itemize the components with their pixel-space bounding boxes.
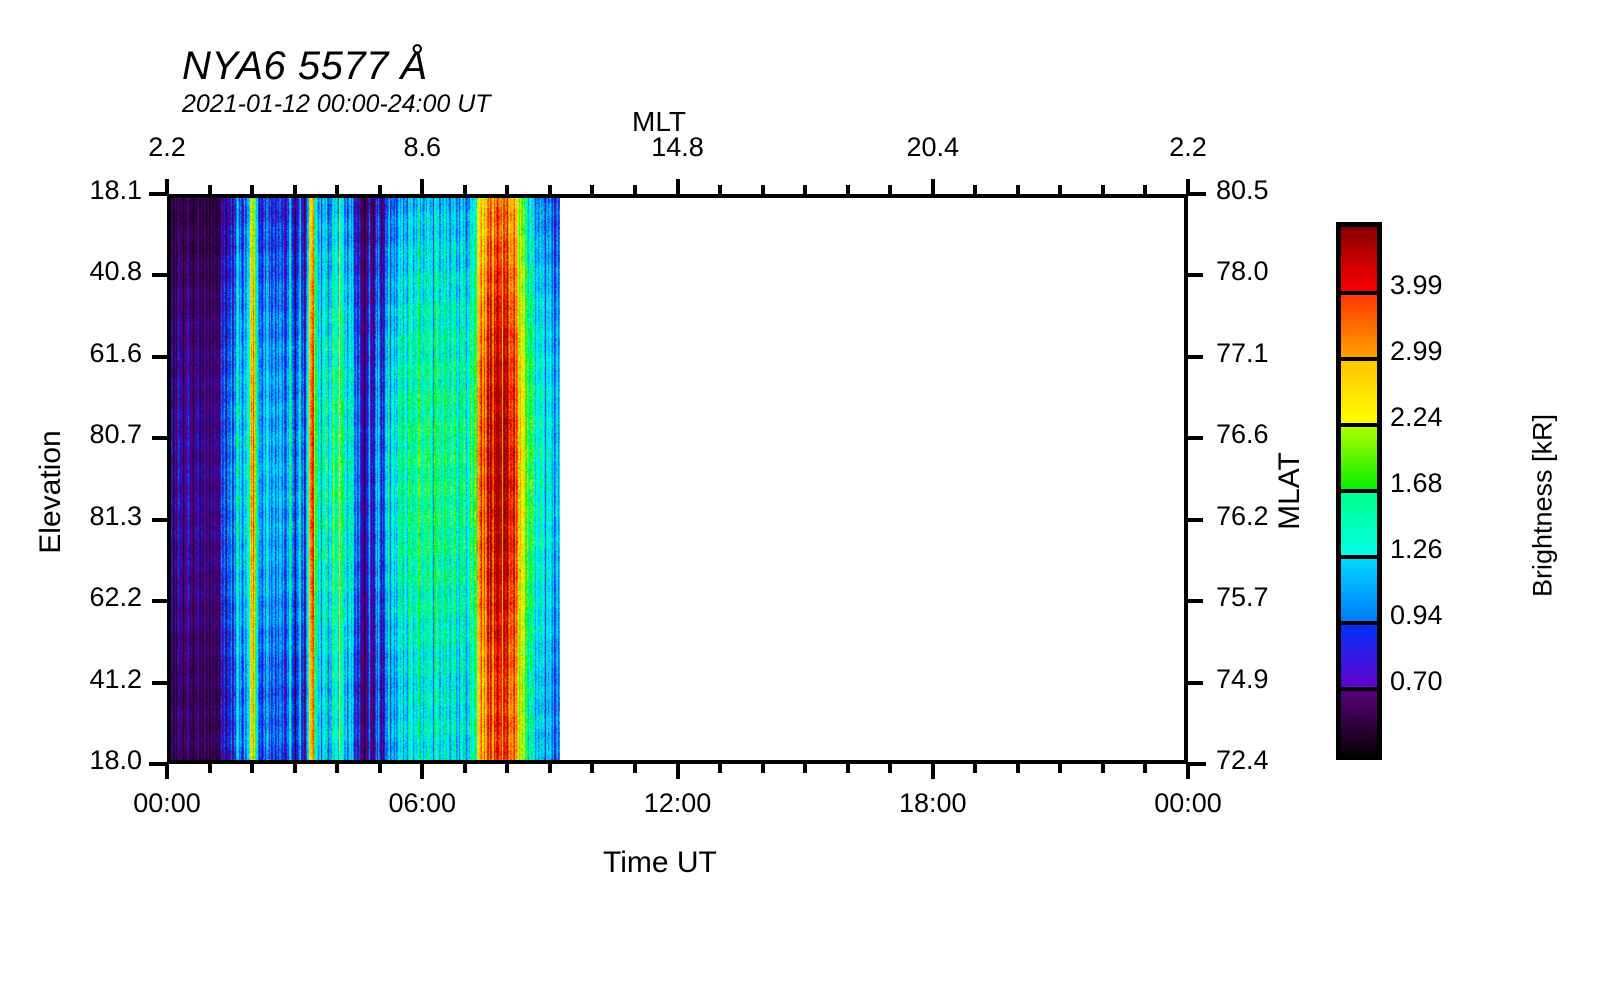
- colorbar-divider: [1341, 291, 1377, 295]
- tick-bottom-22: [1101, 764, 1105, 773]
- tick-bottom-12: [676, 764, 680, 779]
- tick-bottom-8: [505, 764, 509, 773]
- elevation-tick-label: 41.2: [0, 664, 142, 695]
- colorbar-divider: [1341, 621, 1377, 625]
- tick-right-4: [1188, 518, 1203, 522]
- tick-top-21: [1058, 185, 1062, 194]
- elevation-tick-label: 18.1: [0, 175, 142, 206]
- colorbar-axis-title: Brightness [kR]: [1528, 351, 1559, 661]
- colorbar-tick-label: 3.99: [1390, 270, 1443, 301]
- tick-top-13: [718, 185, 722, 194]
- tick-top-3: [293, 185, 297, 194]
- elevation-tick-label: 81.3: [0, 501, 142, 532]
- tick-right-6: [1188, 681, 1203, 685]
- time-tick-label: 00:00: [1118, 788, 1258, 819]
- tick-right-7: [1188, 762, 1206, 766]
- colorbar-tick-label: 0.70: [1390, 666, 1443, 697]
- elevation-tick-label: 61.6: [0, 338, 142, 369]
- tick-bottom-1: [208, 764, 212, 773]
- tick-bottom-4: [335, 764, 339, 773]
- tick-top-16: [846, 185, 850, 194]
- tick-bottom-5: [378, 764, 382, 773]
- mlt-tick-label: 2.2: [1118, 132, 1258, 163]
- tick-left-0: [149, 192, 167, 196]
- tick-bottom-13: [718, 764, 722, 773]
- tick-left-7: [149, 762, 167, 766]
- elevation-tick-label: 18.0: [0, 745, 142, 776]
- tick-bottom-2: [250, 764, 254, 773]
- tick-right-5: [1188, 599, 1203, 603]
- tick-top-10: [590, 185, 594, 194]
- tick-left-2: [152, 355, 167, 359]
- tick-bottom-15: [803, 764, 807, 773]
- page-subtitle: 2021-01-12 00:00-24:00 UT: [182, 90, 491, 119]
- tick-top-9: [548, 185, 552, 194]
- tick-top-20: [1016, 185, 1020, 194]
- tick-bottom-7: [463, 764, 467, 773]
- mlt-tick-label: 14.8: [608, 132, 748, 163]
- tick-bottom-6: [420, 764, 424, 779]
- tick-bottom-9: [548, 764, 552, 773]
- tick-bottom-18: [931, 764, 935, 779]
- page-title: NYA6 5577 Å: [182, 44, 428, 89]
- tick-left-6: [152, 681, 167, 685]
- elevation-tick-label: 80.7: [0, 419, 142, 450]
- tick-left-1: [152, 273, 167, 277]
- tick-top-6: [420, 179, 424, 194]
- colorbar-tick-label: 2.99: [1390, 336, 1443, 367]
- tick-top-15: [803, 185, 807, 194]
- tick-top-11: [633, 185, 637, 194]
- tick-bottom-14: [761, 764, 765, 773]
- elevation-tick-label: 62.2: [0, 582, 142, 613]
- tick-bottom-0: [165, 764, 169, 779]
- tick-bottom-23: [1143, 764, 1147, 773]
- tick-bottom-21: [1058, 764, 1062, 773]
- tick-top-1: [208, 185, 212, 194]
- tick-right-0: [1188, 192, 1206, 196]
- tick-top-23: [1143, 185, 1147, 194]
- time-tick-label: 00:00: [97, 788, 237, 819]
- tick-top-2: [250, 185, 254, 194]
- tick-left-5: [152, 599, 167, 603]
- tick-bottom-3: [293, 764, 297, 773]
- tick-top-22: [1101, 185, 1105, 194]
- keogram-image: [171, 198, 560, 760]
- time-axis-title: Time UT: [603, 846, 717, 880]
- tick-left-3: [152, 436, 167, 440]
- tick-bottom-10: [590, 764, 594, 773]
- keogram-figure: NYA6 5577 Å 2021-01-12 00:00-24:00 UT ML…: [0, 0, 1600, 1000]
- tick-left-4: [152, 518, 167, 522]
- colorbar-divider: [1341, 357, 1377, 361]
- mlt-tick-label: 2.2: [97, 132, 237, 163]
- tick-bottom-11: [633, 764, 637, 773]
- tick-top-18: [931, 179, 935, 194]
- time-tick-label: 18:00: [863, 788, 1003, 819]
- colorbar-tick-label: 2.24: [1390, 402, 1443, 433]
- time-tick-label: 12:00: [608, 788, 748, 819]
- colorbar-tick-label: 0.94: [1390, 600, 1443, 631]
- colorbar-tick-label: 1.26: [1390, 534, 1443, 565]
- tick-top-8: [505, 185, 509, 194]
- tick-bottom-20: [1016, 764, 1020, 773]
- tick-top-4: [335, 185, 339, 194]
- time-tick-label: 06:00: [352, 788, 492, 819]
- colorbar-divider: [1341, 423, 1377, 427]
- colorbar-divider: [1341, 687, 1377, 691]
- tick-bottom-17: [888, 764, 892, 773]
- tick-top-17: [888, 185, 892, 194]
- tick-right-2: [1188, 355, 1203, 359]
- colorbar-divider: [1341, 489, 1377, 493]
- tick-bottom-19: [973, 764, 977, 773]
- tick-top-14: [761, 185, 765, 194]
- tick-top-19: [973, 185, 977, 194]
- mlat-tick-label: 80.5: [1216, 175, 1376, 206]
- elevation-tick-label: 40.8: [0, 256, 142, 287]
- tick-right-1: [1188, 273, 1203, 277]
- colorbar-divider: [1341, 555, 1377, 559]
- tick-top-5: [378, 185, 382, 194]
- mlt-tick-label: 20.4: [863, 132, 1003, 163]
- tick-top-12: [676, 179, 680, 194]
- colorbar-tick-label: 1.68: [1390, 468, 1443, 499]
- tick-right-3: [1188, 436, 1203, 440]
- tick-bottom-16: [846, 764, 850, 773]
- mlt-tick-label: 8.6: [352, 132, 492, 163]
- tick-bottom-24: [1186, 764, 1190, 779]
- colorbar: [1336, 222, 1382, 760]
- tick-top-7: [463, 185, 467, 194]
